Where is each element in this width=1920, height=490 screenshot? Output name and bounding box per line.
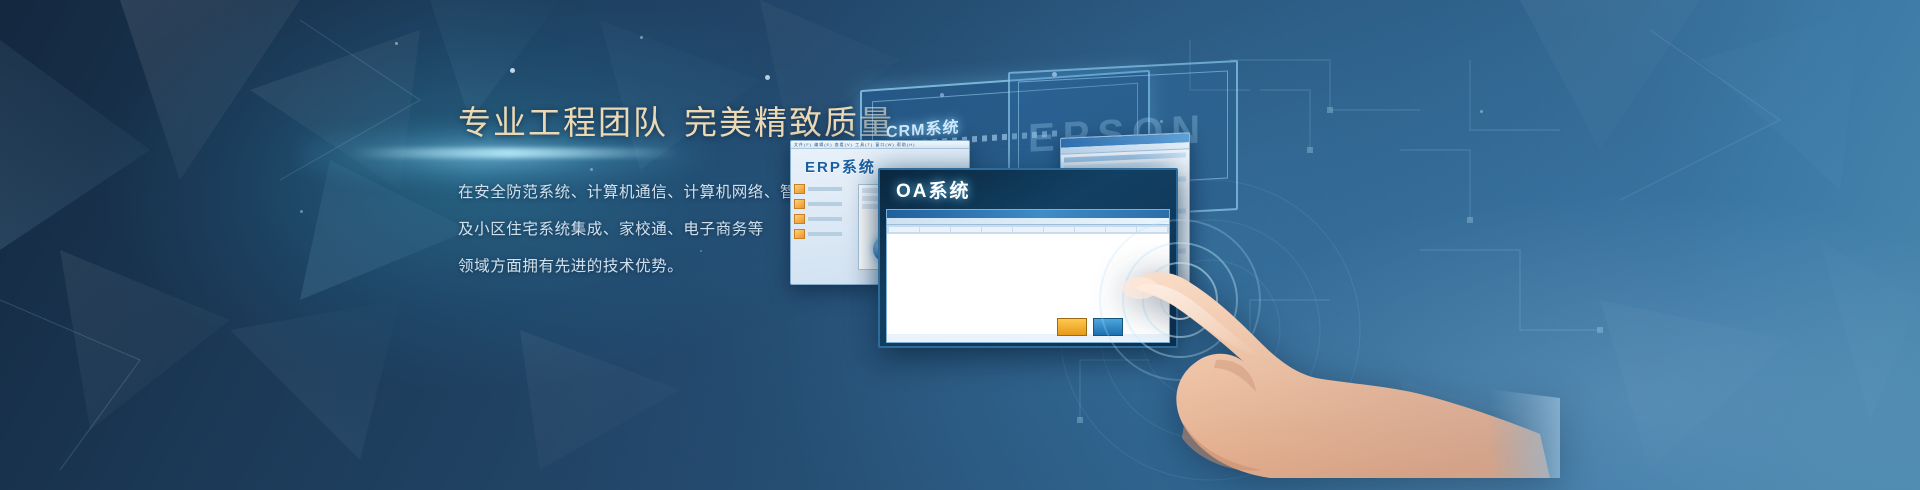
column-header: [1044, 227, 1074, 232]
column-header: [1075, 227, 1105, 232]
particle-dot: [510, 68, 515, 73]
hero-banner: 专业工程团队完美精致质量 在安全防范系统、计算机通信、计算机网络、智能大厦 及小…: [0, 0, 1920, 490]
folder-icon: [794, 229, 805, 239]
oa-titlebar: [887, 210, 1169, 218]
erp-nav-label: [808, 232, 842, 236]
oa-table-body: [887, 234, 1169, 334]
particle-dot: [395, 42, 398, 45]
oa-action-button-secondary[interactable]: [1093, 318, 1123, 336]
screen-mockups: CRM系统 EPSON HAMEI: [760, 40, 1480, 370]
erp-nav-label: [808, 187, 842, 191]
column-header: [982, 227, 1012, 232]
window-oa[interactable]: OA系统: [878, 168, 1178, 348]
erp-nav-list: [791, 181, 855, 273]
erp-nav-label: [808, 202, 842, 206]
erp-nav-label: [808, 217, 842, 221]
folder-icon: [794, 214, 805, 224]
oa-label: OA系统: [880, 170, 1176, 207]
column-header: [951, 227, 981, 232]
particle-dot: [300, 210, 303, 213]
particle-dot: [1480, 110, 1483, 113]
folder-icon: [794, 199, 805, 209]
erp-nav-item[interactable]: [794, 184, 852, 194]
headline-part-1: 专业工程团队: [458, 103, 668, 142]
column-header: [920, 227, 950, 232]
column-header: [889, 227, 919, 232]
erp-nav-item[interactable]: [794, 229, 852, 239]
column-header: [1137, 227, 1167, 232]
column-header: [1013, 227, 1043, 232]
oa-toolbar: [887, 218, 1169, 225]
erp-nav-item[interactable]: [794, 199, 852, 209]
column-header: [1106, 227, 1136, 232]
oa-column-headers: [887, 225, 1169, 234]
particle-dot: [1340, 420, 1343, 423]
erp-nav-item[interactable]: [794, 214, 852, 224]
folder-icon: [794, 184, 805, 194]
particle-dot: [640, 36, 643, 39]
oa-action-button-primary[interactable]: [1057, 318, 1087, 336]
erp-menubar[interactable]: 文件(F) 编辑(E) 查看(V) 工具(T) 窗口(W) 帮助(H): [791, 141, 969, 149]
oa-content-panel: [886, 209, 1170, 343]
